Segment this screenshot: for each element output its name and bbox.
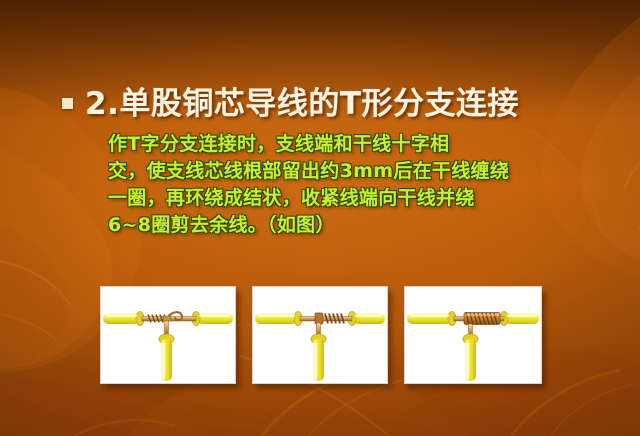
body-line-2: 交，使支线芯线根部留出约3mm后在干线缠绕: [108, 158, 560, 185]
body-paragraph: 作T字分支连接时，支线端和干线十字相 交，使支线芯线根部留出约3mm后在干线缠绕…: [108, 131, 560, 239]
figure-panel-3: [404, 286, 542, 384]
t-joint-diagram-3: [405, 287, 541, 383]
body-line-4: 6~8圈剪去余线。（如图）: [108, 212, 560, 239]
slide-title-row: 2.单股铜芯导线的T形分支连接: [62, 78, 620, 123]
body-line-1: 作T字分支连接时，支线端和干线十字相: [108, 131, 560, 158]
t-joint-diagram-1: [101, 287, 235, 383]
square-bullet-icon: [62, 98, 73, 109]
body-line-3: 一圈，再环绕成结状，收紧线端向干线并绕: [108, 185, 560, 212]
presentation-slide: 2.单股铜芯导线的T形分支连接 作T字分支连接时，支线端和干线十字相 交，使支线…: [0, 0, 640, 436]
t-joint-diagram-2: [253, 287, 387, 383]
page-title: 2.单股铜芯导线的T形分支连接: [85, 78, 519, 123]
figure-panel-2: [252, 286, 388, 384]
figure-group: [100, 286, 540, 382]
figure-panel-1: [100, 286, 236, 384]
